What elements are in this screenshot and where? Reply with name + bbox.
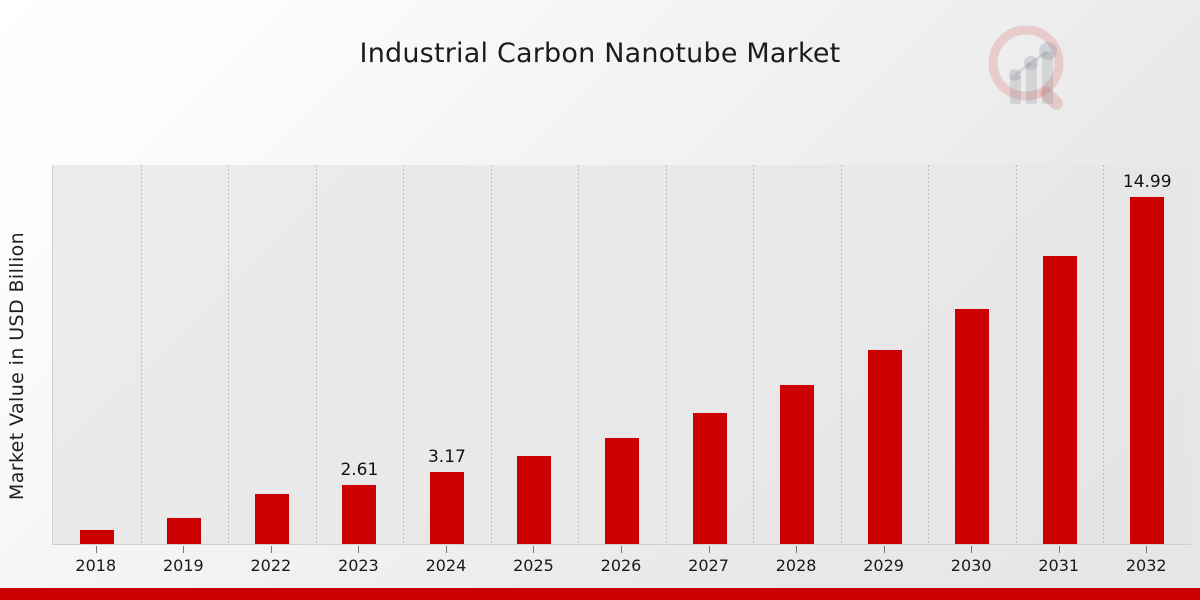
x-tick-label-2018: 2018 (51, 556, 141, 575)
x-tick-label-2025: 2025 (488, 556, 578, 575)
plot-area: 2.613.1714.99 (52, 165, 1191, 545)
x-tick-2023 (358, 546, 359, 553)
page-title: Industrial Carbon Nanotube Market (0, 38, 1200, 69)
gridline (228, 165, 229, 545)
gridline (753, 165, 754, 545)
x-tick-label-2032: 2032 (1101, 556, 1191, 575)
gridline (316, 165, 317, 545)
x-tick-2025 (533, 546, 534, 553)
gridline (403, 165, 404, 545)
bar-2025[interactable] (516, 455, 552, 545)
bar-2031[interactable] (1042, 255, 1078, 545)
x-tick-label-2019: 2019 (138, 556, 228, 575)
gridline (841, 165, 842, 545)
bar-2022[interactable] (254, 493, 290, 545)
x-tick-2031 (1059, 546, 1060, 553)
bar-2027[interactable] (692, 412, 728, 545)
bar-value-label-2032: 14.99 (1107, 172, 1187, 192)
bar-2024[interactable] (429, 471, 465, 545)
gridline (491, 165, 492, 545)
x-tick-2032 (1146, 546, 1147, 553)
x-tick-2018 (96, 546, 97, 553)
bar-2029[interactable] (867, 349, 903, 545)
bar-2019[interactable] (166, 517, 202, 545)
x-tick-2022 (271, 546, 272, 553)
bar-value-label-2023: 2.61 (319, 460, 399, 480)
gridline (1103, 165, 1104, 545)
x-tick-2028 (796, 546, 797, 553)
y-axis-label: Market Value in USD Billion (6, 166, 28, 566)
bar-2026[interactable] (604, 437, 640, 545)
x-tick-label-2030: 2030 (926, 556, 1016, 575)
bar-2030[interactable] (954, 308, 990, 545)
x-tick-2024 (446, 546, 447, 553)
x-tick-2019 (183, 546, 184, 553)
bar-2018[interactable] (79, 529, 115, 545)
x-tick-label-2031: 2031 (1014, 556, 1104, 575)
x-tick-label-2027: 2027 (664, 556, 754, 575)
chart-page: Industrial Carbon Nanotube Market Market… (0, 0, 1200, 600)
x-tick-2030 (971, 546, 972, 553)
gridline (928, 165, 929, 545)
x-tick-label-2022: 2022 (226, 556, 316, 575)
x-tick-label-2029: 2029 (839, 556, 929, 575)
x-tick-label-2024: 2024 (401, 556, 491, 575)
x-tick-label-2028: 2028 (751, 556, 841, 575)
x-tick-2026 (621, 546, 622, 553)
x-tick-2029 (884, 546, 885, 553)
gridline (666, 165, 667, 545)
bar-2028[interactable] (779, 384, 815, 545)
bar-2023[interactable] (341, 484, 377, 545)
x-tick-label-2023: 2023 (313, 556, 403, 575)
gridline (578, 165, 579, 545)
footer-accent-bar (0, 588, 1200, 600)
bar-value-label-2024: 3.17 (407, 447, 487, 467)
gridline (141, 165, 142, 545)
market-research-logo-icon (983, 22, 1079, 118)
bar-2032[interactable] (1129, 196, 1165, 545)
gridline (1016, 165, 1017, 545)
x-tick-2027 (709, 546, 710, 553)
x-tick-label-2026: 2026 (576, 556, 666, 575)
